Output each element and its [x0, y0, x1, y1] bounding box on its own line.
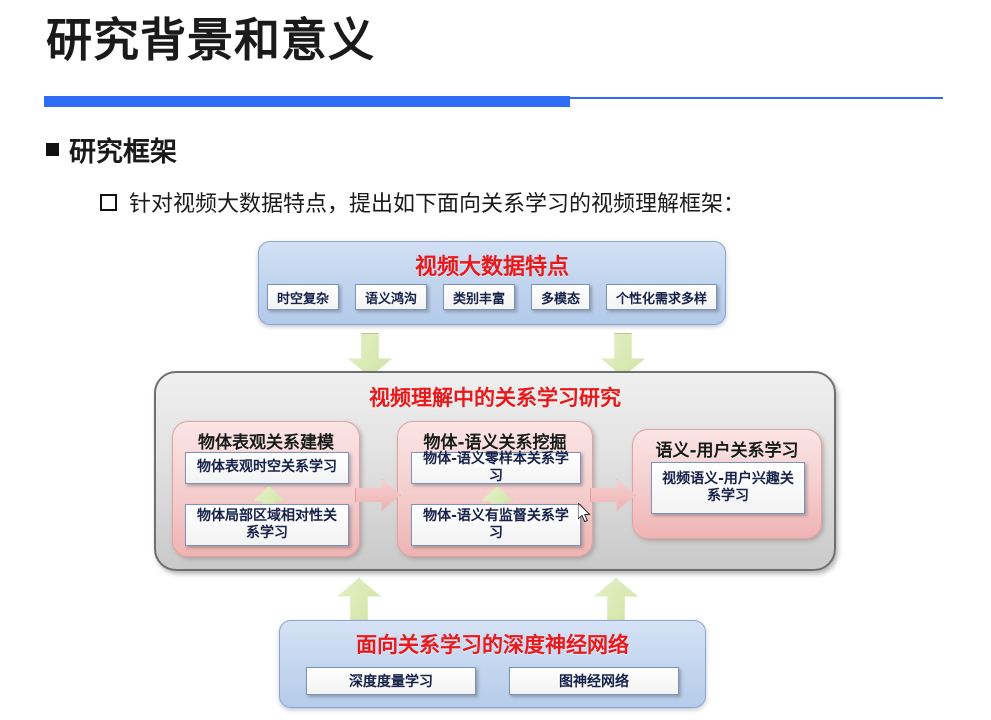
chip-item[interactable]: 图神经网络 [509, 667, 679, 695]
group-item[interactable]: 物体局部区域相对性关系学习 [185, 504, 349, 546]
square-hollow-bullet-icon [100, 194, 117, 211]
bullet-level1: 研究框架 [46, 130, 177, 169]
group-item[interactable]: 物体-语义零样本关系学习 [411, 452, 581, 484]
group-item[interactable]: 视频语义-用户兴趣关系学习 [651, 462, 805, 514]
chip-item[interactable]: 时空复杂 [267, 284, 339, 310]
arrow-up-icon [594, 578, 638, 622]
relation-learning-research-panel: 视频理解中的关系学习研究 物体表观关系建模 物体表观时空关系学习 物体局部区域相… [154, 371, 836, 571]
title-divider-thick [44, 96, 570, 107]
bullet-level1-label: 研究框架 [69, 130, 177, 169]
title-divider [44, 96, 943, 107]
deep-neural-network-box: 面向关系学习的深度神经网络 深度度量学习 图神经网络 [279, 620, 706, 708]
bullet-level2: 针对视频大数据特点，提出如下面向关系学习的视频理解框架： [100, 186, 745, 218]
title-divider-thin [570, 97, 943, 99]
video-bigdata-characteristics-box: 视频大数据特点 时空复杂 语义鸿沟 类别丰富 多模态 个性化需求多样 [258, 241, 726, 325]
top-box-chip-list: 时空复杂 语义鸿沟 类别丰富 多模态 个性化需求多样 [267, 284, 717, 310]
group-item[interactable]: 物体表观时空关系学习 [185, 452, 349, 484]
group-item[interactable]: 物体-语义有监督关系学习 [411, 504, 581, 546]
page-title: 研究背景和意义 [46, 14, 375, 67]
chip-item[interactable]: 个性化需求多样 [606, 284, 717, 310]
arrow-up-icon [337, 578, 381, 622]
square-filled-bullet-icon [46, 143, 59, 156]
arrow-right-icon [590, 479, 636, 511]
chip-item[interactable]: 语义鸿沟 [355, 284, 427, 310]
chip-item[interactable]: 类别丰富 [443, 284, 515, 310]
group-heading: 物体表观关系建模 [173, 428, 359, 453]
bottom-box-chip-list: 深度度量学习 图神经网络 [306, 667, 679, 695]
group-semantic-user-relation: 语义-用户关系学习 视频语义-用户兴趣关系学习 [632, 429, 822, 539]
chip-item[interactable]: 多模态 [531, 284, 590, 310]
bottom-box-title: 面向关系学习的深度神经网络 [280, 629, 705, 659]
bullet-level2-label: 针对视频大数据特点，提出如下面向关系学习的视频理解框架： [129, 186, 745, 218]
arrow-right-icon [355, 479, 401, 511]
top-box-title: 视频大数据特点 [259, 249, 725, 281]
group-heading: 语义-用户关系学习 [633, 436, 821, 461]
chip-item[interactable]: 深度度量学习 [306, 667, 476, 695]
center-panel-title: 视频理解中的关系学习研究 [156, 382, 834, 412]
group-object-semantic-relation: 物体-语义关系挖掘 物体-语义零样本关系学习 物体-语义有监督关系学习 [397, 421, 593, 557]
group-object-appearance-relation: 物体表观关系建模 物体表观时空关系学习 物体局部区域相对性关系学习 [172, 421, 360, 557]
group-heading: 物体-语义关系挖掘 [398, 428, 592, 453]
